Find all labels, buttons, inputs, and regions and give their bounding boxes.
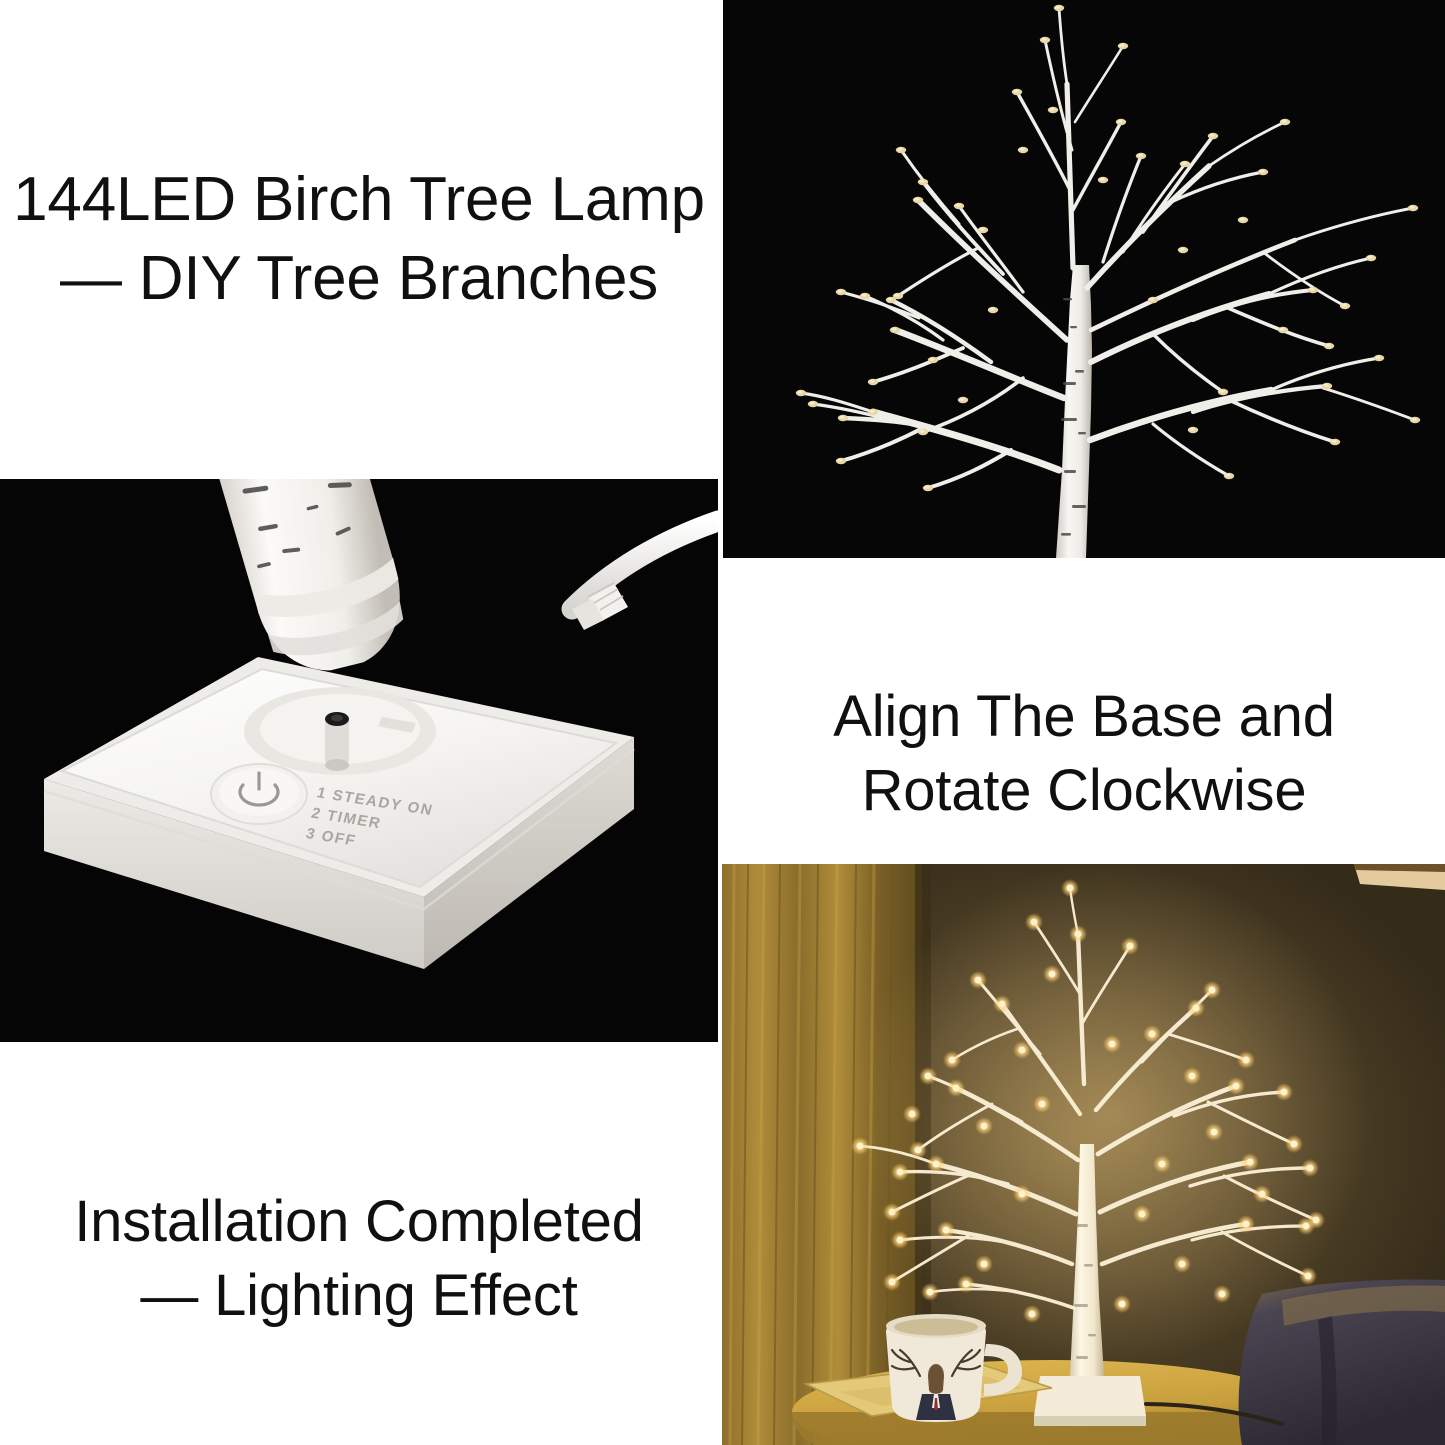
caption-installed-line-1: Installation Completed xyxy=(0,1185,718,1259)
page-title-line-2: — DIY Tree Branches xyxy=(0,239,718,318)
lifestyle-scene-illustration xyxy=(722,864,1445,1445)
unlit-birch-tree-illustration xyxy=(723,0,1445,558)
caption-align-line-1: Align The Base and xyxy=(723,680,1445,754)
caption-align-base: Align The Base and Rotate Clockwise xyxy=(723,680,1445,828)
connector-pin xyxy=(325,712,349,771)
caption-installed-line-2: — Lighting Effect xyxy=(0,1259,718,1333)
caption-align-line-2: Rotate Clockwise xyxy=(723,754,1445,828)
panel-unlit-birch-tree xyxy=(723,0,1445,558)
base-assembly-illustration: 1 STEADY ON 2 TIMER 3 OFF xyxy=(0,479,718,1042)
lamp-base-small xyxy=(1034,1376,1146,1426)
page-title-line-1: 144LED Birch Tree Lamp xyxy=(0,160,718,239)
page-title: 144LED Birch Tree Lamp — DIY Tree Branch… xyxy=(0,160,718,319)
caption-installation-completed: Installation Completed — Lighting Effect xyxy=(0,1185,718,1333)
panel-base-assembly: 1 STEADY ON 2 TIMER 3 OFF xyxy=(0,479,718,1042)
panel-lifestyle-lit-tree xyxy=(722,864,1445,1445)
power-button[interactable] xyxy=(211,764,307,824)
infographic-page: 144LED Birch Tree Lamp — DIY Tree Branch… xyxy=(0,0,1445,1445)
